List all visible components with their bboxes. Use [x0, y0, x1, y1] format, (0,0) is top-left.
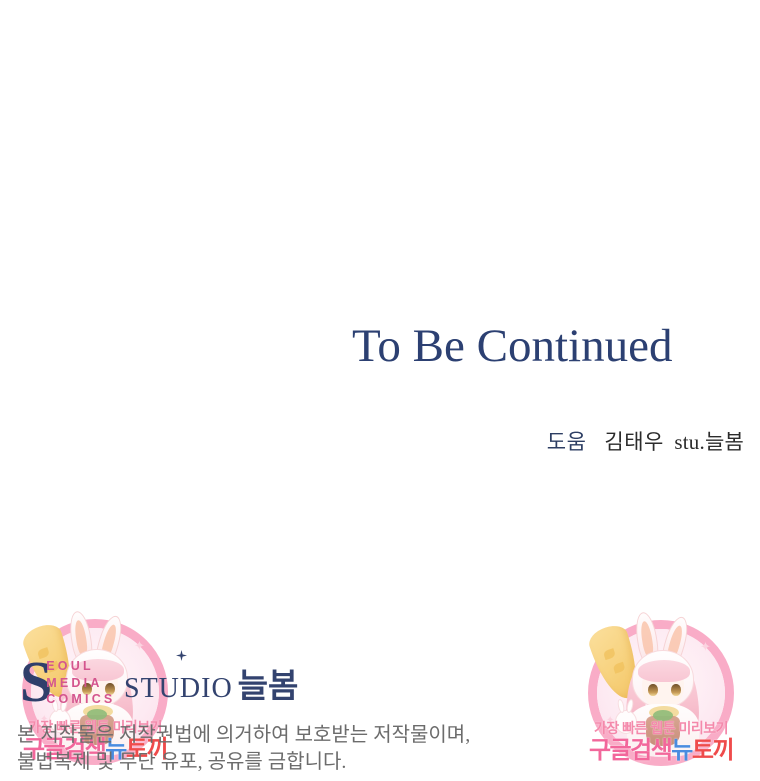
studio-label-kr: 늘봄	[238, 669, 299, 705]
character-face	[642, 664, 684, 710]
logo-word-comics: COMICS	[46, 691, 115, 708]
logo-wordmark: EOUL MEDIA COMICS	[46, 658, 115, 708]
watermark-text-block: 가장 빠른 웹툰 미리보기 구글검색뉴토끼	[580, 719, 742, 765]
bunny-ear-left-icon	[633, 611, 661, 667]
sparkle-icon: ✦	[700, 640, 711, 653]
character-body	[627, 704, 699, 756]
character-eye-right	[671, 684, 681, 696]
logo-word-media: MEDIA	[46, 675, 115, 692]
character-hair-right	[675, 667, 702, 733]
copyright-line-2: 불법복제 및 무단 유포, 공유를 금합니다.	[17, 749, 470, 776]
character-bangs	[638, 660, 690, 682]
watermark-brand-red: 토끼	[692, 737, 733, 764]
credits-role-label: 도움	[547, 430, 587, 454]
copyright-line-1: 본 저작물은 저작권법에 의거하여 보호받는 저작물이며,	[17, 722, 470, 749]
mini-bunny-icon	[615, 710, 637, 734]
watermark-brand-blue: 뉴	[671, 737, 692, 764]
character-basket	[646, 716, 680, 746]
sparkle-icon: ✦	[606, 716, 614, 726]
logo-word-seoul: EOUL	[46, 658, 115, 675]
carrot-leaf-icon	[653, 710, 673, 721]
to-be-continued-text: To Be Continued	[352, 322, 744, 371]
watermark-brand-prefix: 구글검색	[589, 737, 671, 764]
bunny-hood	[632, 650, 694, 708]
seoul-media-comics-logo: S EOUL MEDIA COMICS	[20, 656, 115, 708]
carrot-icon	[586, 622, 647, 705]
studio-label-en: STUDIO	[124, 673, 233, 704]
character-hair-left	[624, 667, 650, 733]
credits-artist-name: 김태우	[604, 430, 663, 454]
watermark-inner-circle	[597, 629, 725, 757]
watermark-tagline: 가장 빠른 웹툰 미리보기	[580, 719, 742, 737]
studio-neulbom-label: STUDIO늘봄	[124, 659, 298, 707]
credits-studio-name: stu.늘봄	[674, 430, 744, 454]
watermark-brand: 구글검색뉴토끼	[580, 737, 742, 765]
character-eye-left	[648, 684, 658, 696]
bunny-ear-right-icon	[658, 614, 692, 671]
sparkle-icon	[176, 650, 187, 661]
credits-line: 도움김태우 stu.늘봄	[340, 430, 744, 455]
watermark-ring	[588, 620, 734, 766]
copyright-notice: 본 저작물은 저작권법에 의거하여 보호받는 저작물이며, 불법복제 및 무단 …	[17, 722, 470, 776]
sparkle-icon: ✦	[134, 639, 145, 652]
carrot-leaf-icon	[87, 709, 107, 720]
character-bow	[649, 706, 679, 719]
comic-episode-ending-page: To Be Continued 도움김태우 stu.늘봄 ✦ ✦ 가장 빠른 웹…	[0, 0, 760, 781]
watermark-badge-right: ✦ ✦ 가장 빠른 웹툰 미리보기 구글검색뉴토끼	[580, 606, 742, 781]
